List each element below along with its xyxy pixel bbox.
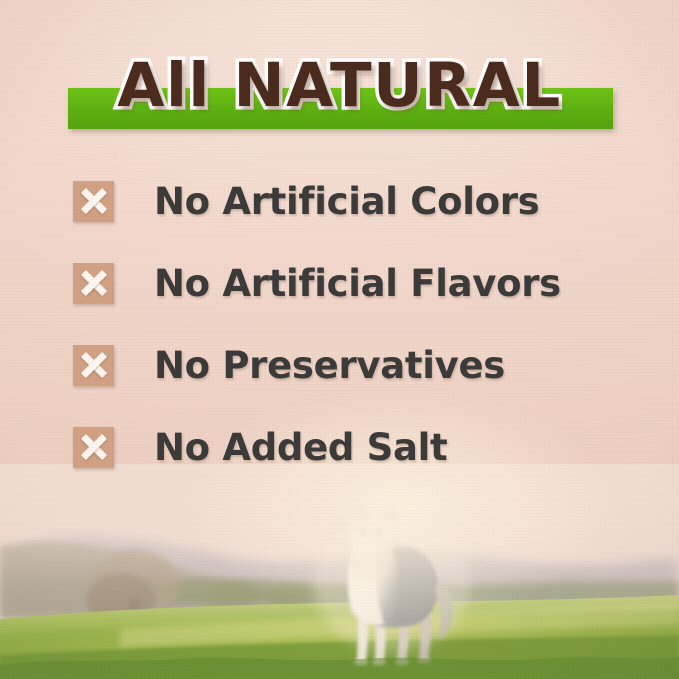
page-title: All NATURAL	[0, 50, 679, 122]
claim-label: No Artificial Flavors	[154, 262, 561, 305]
dog-backlight	[314, 513, 470, 653]
x-mark-icon	[73, 345, 114, 386]
bottom-photograph	[0, 479, 679, 679]
poster-root: All NATURAL No Artificial Colors No Arti…	[0, 0, 679, 679]
x-mark-icon	[73, 263, 114, 304]
x-mark-icon	[73, 181, 114, 222]
claim-label: No Added Salt	[154, 426, 447, 469]
x-mark-icon	[73, 427, 114, 468]
claim-label: No Artificial Colors	[154, 180, 539, 223]
list-item: No Artificial Flavors	[0, 242, 679, 324]
claims-list: No Artificial Colors No Artificial Flavo…	[0, 160, 679, 488]
list-item: No Artificial Colors	[0, 160, 679, 242]
headline-banner: All NATURAL	[0, 0, 679, 150]
list-item: No Added Salt	[0, 406, 679, 488]
list-item: No Preservatives	[0, 324, 679, 406]
claim-label: No Preservatives	[154, 344, 505, 387]
landscape-illustration	[0, 479, 679, 679]
